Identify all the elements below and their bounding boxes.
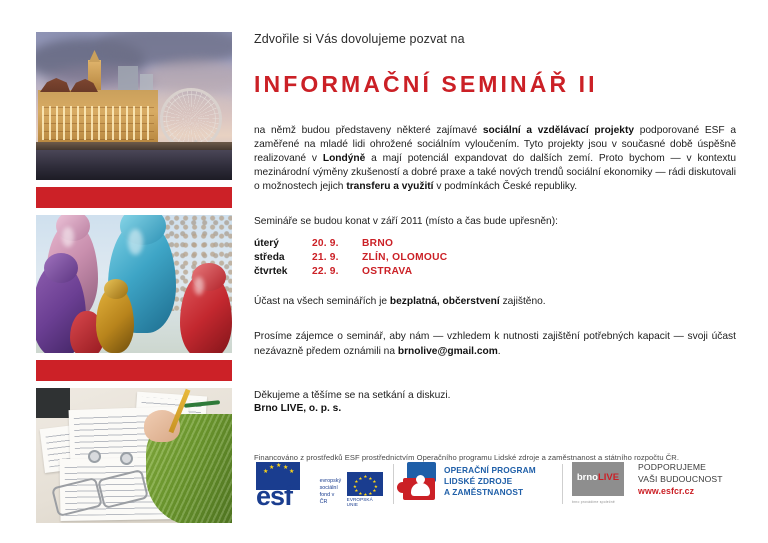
intro-paragraph: na němž budou představeny některé zajíma… [254,124,736,194]
red-divider-bar [36,187,232,208]
spacer [36,180,232,187]
binder-ring [120,452,133,465]
figure-body-shape [411,483,430,496]
schedule-city: ZLÍN, OLOMOUC [362,252,447,266]
dark-corner [36,388,70,418]
poster-page: Zdvořile si Vás dovolujeme pozvat na INF… [0,0,768,543]
table-row: úterý20. 9.BRNO [254,238,447,252]
op-line-1: OPERAČNÍ PROGRAM [444,465,536,476]
table-row: čtvrtek22. 9.OSTRAVA [254,266,447,280]
closing-block: Děkujeme a těšíme se na setkání a diskuz… [254,389,736,416]
emphasis-text: Londýně [323,153,365,164]
eu-stars: ★★ ★★ ★ [261,464,295,477]
content-column: Zdvořile si Vás dovolujeme pozvat na INF… [254,32,736,462]
signature: Brno LIVE, o. p. s. [254,403,341,414]
student-writing-notes-photo [36,388,232,523]
schedule-date: 20. 9. [312,238,362,252]
jelly-baby-amber-head [104,279,128,299]
schedule-date: 21. 9. [312,252,362,266]
esf-subtitle-line-3: fond v ČR [320,492,343,506]
binder-ring [88,450,101,463]
seminars-intro: Semináře se budou konat v září 2011 (mís… [254,216,736,227]
op-logo-text: OPERAČNÍ PROGRAM LIDSKÉ ZDROJE A ZAMĚSTN… [444,465,536,498]
brno-live-subtitle: brno provádíme společně [572,500,634,504]
esf-subtitle-line-2: sociální [320,485,343,492]
schedule-body: úterý20. 9.BRNOstředa21. 9.ZLÍN, OLOMOUC… [254,238,447,280]
logo-strip: ★★ ★★ ★ esf evropský sociální fond v ČR … [256,462,736,520]
free-participation-line: Účast na všech seminářích je bezplatná, … [254,296,736,307]
invitation-lead: Zdvořile si Vás dovolujeme pozvat na [254,32,736,46]
body-text: Účast na všech seminářích je [254,296,390,307]
jelly-baby-purple-head [44,253,78,283]
thanks-line: Děkujeme a těšíme se na setkání a diskuz… [254,390,451,401]
esfcr-line-2: VAŠI BUDOUCNOST [638,474,723,486]
emphasis-text: transferu a využití [346,181,433,192]
seminar-schedule-table: úterý20. 9.BRNOstředa21. 9.ZLÍN, OLOMOUC… [254,238,447,280]
esfcr-logo: PODPORUJEME VAŠI BUDOUCNOST www.esfcr.cz [634,462,723,496]
body-text: zajištěno. [500,296,546,307]
schedule-city: OSTRAVA [362,266,447,280]
esf-wordmark: esf [256,483,292,510]
emphasis-text: sociální a vzdělávací projekty [483,125,634,136]
op-line-3: A ZAMĚSTNANOST [444,487,536,498]
operacni-program-logo: OPERAČNÍ PROGRAM LIDSKÉ ZDROJE A ZAMĚSTN… [403,462,553,500]
body-text: na němž budou představeny některé zajíma… [254,125,483,136]
jelly-baby-sculptures-photo [36,215,232,353]
emphasis-text: bezplatná, občerstvení [390,296,500,307]
lit-windows [42,106,154,140]
brno-live-wordmark: brnoLIVE [572,473,624,483]
schedule-day: čtvrtek [254,266,312,280]
brno-live-badge: brnoLIVE [572,462,624,496]
london-eye-inner-rim [166,94,216,144]
eu-flag-caption: EVROPSKÁ UNIE [347,497,384,507]
schedule-day: středa [254,252,312,266]
highlight [62,227,74,247]
rsvp-paragraph: Prosíme zájemce o seminář, aby nám — vzh… [254,330,736,358]
esf-subtitle: evropský sociální fond v ČR [320,478,343,508]
river-thames [36,150,232,180]
schedule-day: úterý [254,238,312,252]
puzzle-piece-icon [403,462,437,500]
live-word: LIVE [598,472,619,483]
eu-flag-block: ★★ ★★ ★★ ★★ ★★ ★★ EVROPSKÁ UNIE [347,472,384,508]
contact-email[interactable]: brnolive@gmail.com [398,346,498,357]
esf-subtitle-line-1: evropský [320,478,343,485]
spacer [36,381,232,388]
eu-flag: ★★ ★★ ★★ ★★ ★★ ★★ [347,472,383,496]
esf-logo: ★★ ★★ ★ esf evropský sociální fond v ČR … [256,462,384,508]
brno-word: brno [577,472,598,483]
highlight [194,277,204,295]
red-divider-bar [36,360,232,381]
spacer [36,353,232,360]
body-text: . [498,346,501,357]
esfcr-line-1: PODPORUJEME [638,462,723,474]
eyeglasses [54,476,150,510]
body-text: v podmínkách České republiky. [434,181,578,192]
schedule-city: BRNO [362,238,447,252]
op-line-2: LIDSKÉ ZDROJE [444,476,536,487]
left-image-column [36,32,232,523]
spacer [36,208,232,215]
london-eye-county-hall-photo [36,32,232,180]
schedule-date: 22. 9. [312,266,362,280]
brno-live-logo: brnoLIVE brno provádíme společně [572,462,634,504]
esf-mark: ★★ ★★ ★ esf [256,462,316,508]
highlight [128,229,143,255]
esfcr-url: www.esfcr.cz [638,486,723,496]
table-row: středa21. 9.ZLÍN, OLOMOUC [254,252,447,266]
logo-divider [393,464,394,504]
logo-divider [562,464,563,504]
page-title: INFORMAČNÍ SEMINÁŘ II [254,73,736,96]
